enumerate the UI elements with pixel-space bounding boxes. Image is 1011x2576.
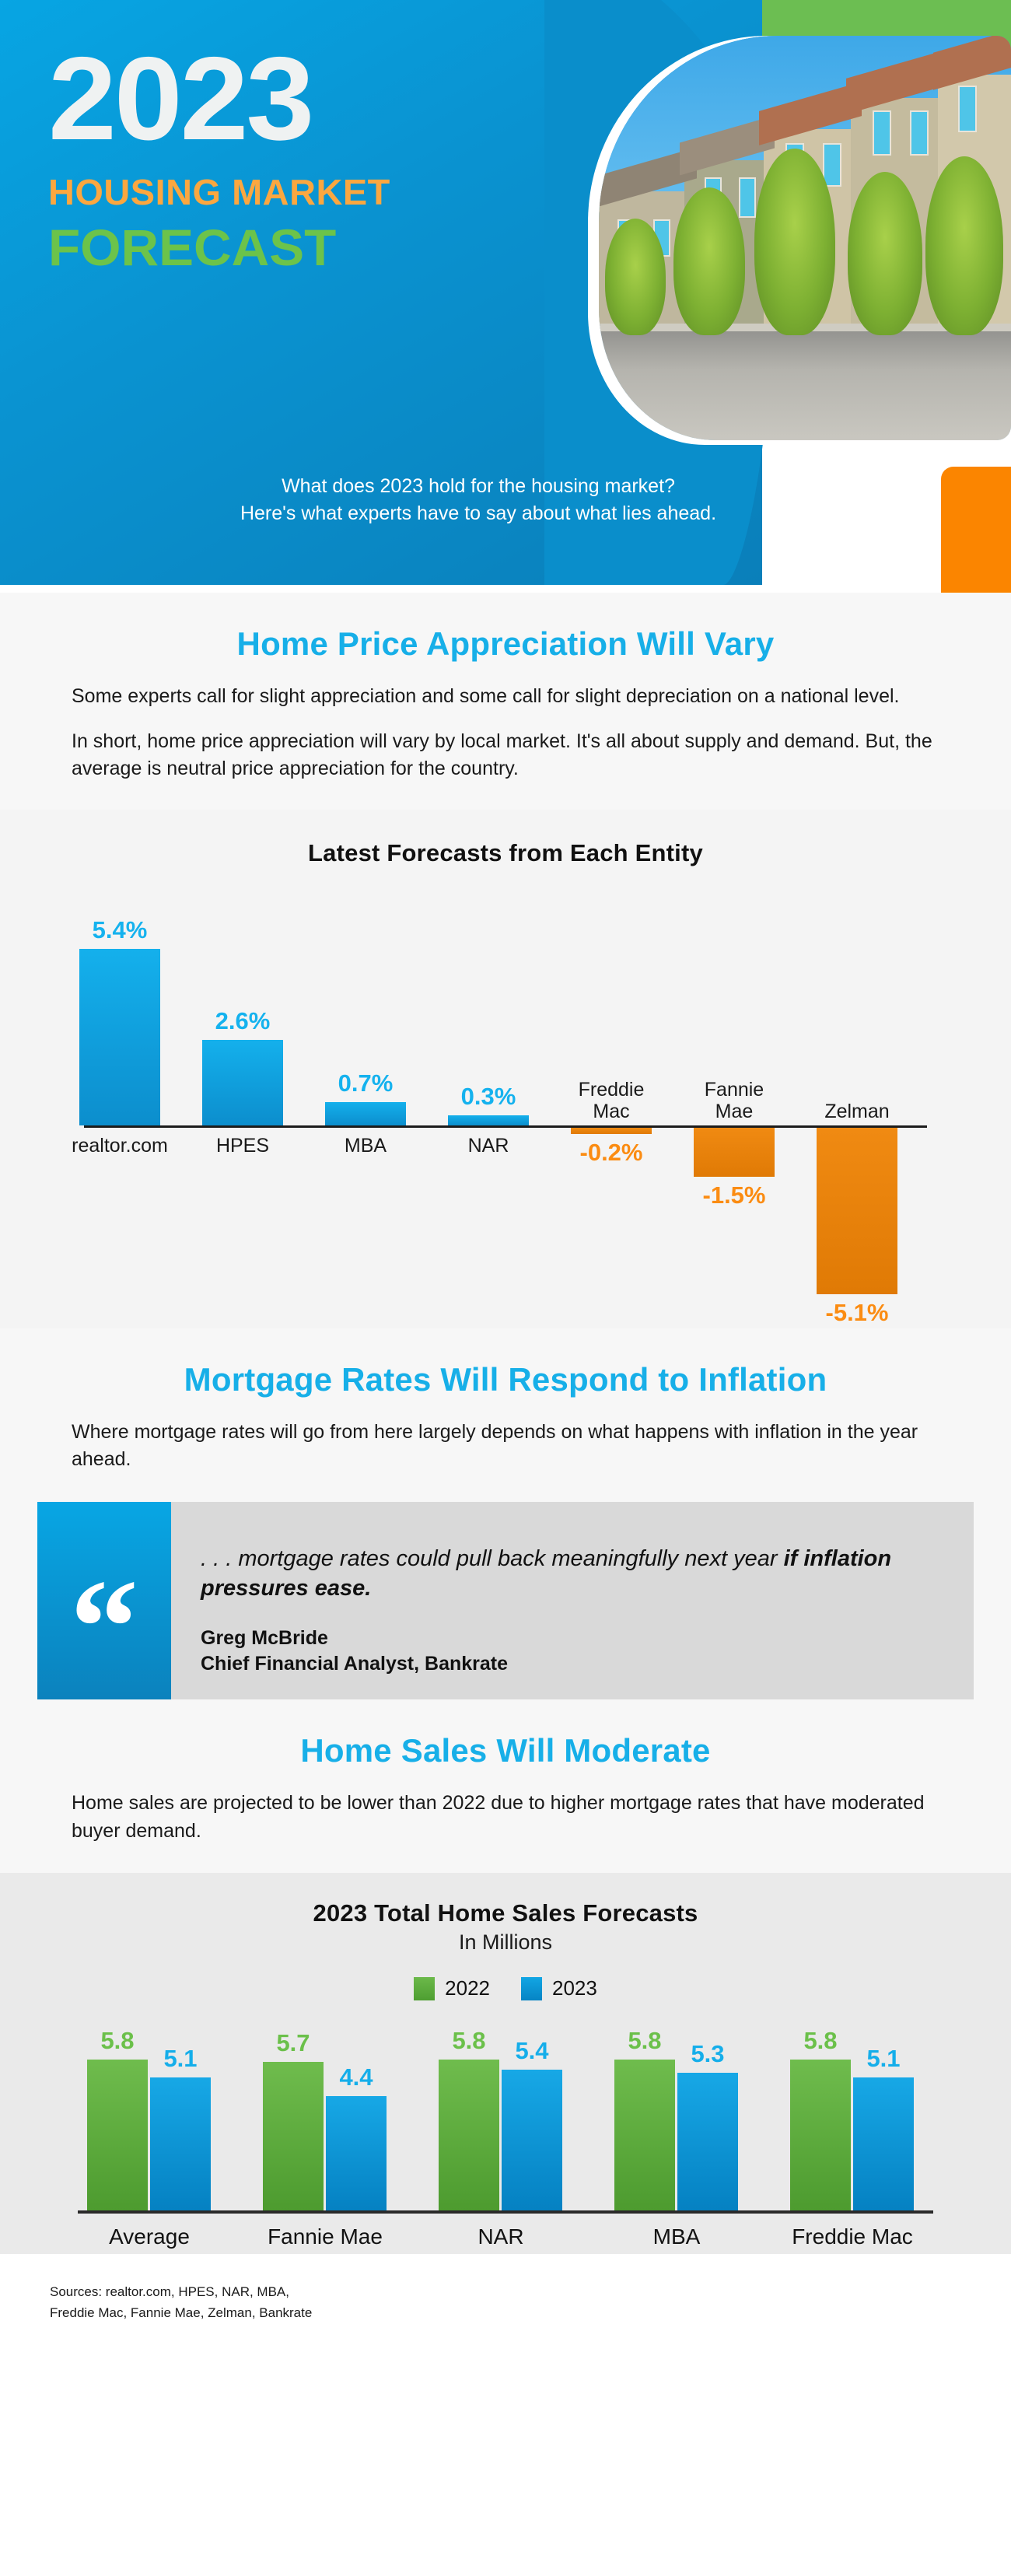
chart1-bar-negative <box>817 1128 897 1294</box>
quote-author-title: Chief Financial Analyst, Bankrate <box>201 1651 936 1677</box>
chart2-legend-label: 2023 <box>552 1976 597 2000</box>
chart2-bar: 4.4 <box>326 2096 387 2210</box>
chart1-category-label: Zelman <box>824 1101 889 1122</box>
chart2-legend-label: 2022 <box>445 1976 490 2000</box>
chart2-value-label: 5.1 <box>866 2045 900 2073</box>
chart2-value-label: 5.8 <box>452 2027 485 2055</box>
sources-line-2: Freddie Mac, Fannie Mae, Zelman, Bankrat… <box>50 2303 1011 2323</box>
chart2-bar: 5.7 <box>263 2062 324 2210</box>
chart2-value-label: 5.3 <box>691 2040 724 2068</box>
page-title-year: 2023 <box>48 45 613 154</box>
section1-body: Some experts call for slight appreciatio… <box>0 663 1011 783</box>
quote-author: Greg McBride <box>201 1626 936 1651</box>
chart2-category-label: Fannie Mae <box>268 2224 383 2249</box>
chart1-bar-negative <box>571 1128 652 1134</box>
chart2-baseline-axis <box>78 2210 933 2214</box>
chart1-bar-group: 2.6%HPES <box>202 901 283 1294</box>
chart1-bar-negative <box>694 1128 775 1177</box>
chart2-bar: 5.1 <box>853 2077 914 2210</box>
chart1-category-label: FannieMae <box>705 1079 764 1122</box>
chart1-value-label: 0.7% <box>338 1069 394 1097</box>
chart2-bar: 5.8 <box>439 2060 499 2210</box>
section3-body: Home sales are projected to be lower tha… <box>0 1769 1011 1845</box>
chart1-category-label: MBA <box>345 1135 387 1157</box>
quote-text: . . . mortgage rates could pull back mea… <box>201 1544 936 1605</box>
chart2-legend-swatch <box>521 1977 542 2000</box>
section-mortgage-rates: Mortgage Rates Will Respond to Inflation… <box>0 1328 1011 1700</box>
chart1-bar-positive <box>79 949 160 1125</box>
chart2-bar: 5.3 <box>677 2073 738 2211</box>
chart1-bar-group: 0.3%NAR <box>448 901 529 1294</box>
quote-mark-icon: “ <box>70 1587 138 1669</box>
chart2-value-label: 5.1 <box>163 2045 197 2073</box>
header-banner: 2023 HOUSING MARKET FORECAST What does 2… <box>0 0 1011 593</box>
quote-text-plain: . . . mortgage rates could pull back mea… <box>201 1546 784 1571</box>
chart1-title: Latest Forecasts from Each Entity <box>0 839 1011 867</box>
chart2-legend-item: 2023 <box>521 1976 597 2000</box>
chart1-value-label: -1.5% <box>703 1181 766 1209</box>
chart2-bar-group: 5.74.4 <box>263 2062 387 2210</box>
chart2-value-label: 5.8 <box>100 2027 134 2055</box>
chart1-bar-positive <box>202 1040 283 1125</box>
chart1-bar-group: 5.4%realtor.com <box>79 901 160 1294</box>
chart1-value-label: -0.2% <box>580 1139 643 1167</box>
tagline-line-2: Here's what experts have to say about wh… <box>31 500 925 527</box>
chart1-bar-group: -1.5%FannieMae <box>694 901 775 1294</box>
chart2-value-label: 5.7 <box>276 2029 310 2057</box>
chart2-legend-item: 2022 <box>414 1976 490 2000</box>
chart1-value-label: 2.6% <box>215 1007 271 1035</box>
chart2-title: 2023 Total Home Sales Forecasts <box>0 1899 1011 1927</box>
chart2-bar: 5.8 <box>790 2060 851 2210</box>
chart1-category-label: HPES <box>216 1135 269 1157</box>
chart2-value-label: 4.4 <box>339 2063 373 2091</box>
chart2-bar: 5.1 <box>150 2077 211 2210</box>
chart2-category-label: Freddie Mac <box>792 2224 913 2249</box>
chart2-bar: 5.8 <box>614 2060 675 2210</box>
section-home-price-appreciation: Home Price Appreciation Will Vary Some e… <box>0 593 1011 1328</box>
chart1-value-label: -5.1% <box>826 1299 889 1327</box>
chart1-category-label: NAR <box>468 1135 509 1157</box>
chart1-bar-group: -5.1%Zelman <box>817 901 897 1294</box>
chart2-category-label: NAR <box>478 2224 523 2249</box>
chart1-plot-area: 5.4%realtor.com2.6%HPES0.7%MBA0.3%NAR-0.… <box>62 901 949 1294</box>
chart1-category-label: FreddieMac <box>579 1079 645 1122</box>
chart2-bar-group: 5.85.4 <box>439 2060 562 2210</box>
chart2-category-label: MBA <box>653 2224 701 2249</box>
section2-paragraph-1: Where mortgage rates will go from here l… <box>72 1419 939 1474</box>
chart2-legend: 20222023 <box>0 1976 1011 2000</box>
chart2-bar-group: 5.85.1 <box>87 2060 211 2210</box>
chart1-bar-group: -0.2%FreddieMac <box>571 901 652 1294</box>
chart2-bar-group: 5.85.3 <box>614 2060 738 2210</box>
expert-quote-block: “ . . . mortgage rates could pull back m… <box>37 1502 974 1700</box>
chart1-category-label: realtor.com <box>72 1135 168 1157</box>
chart2-subtitle: In Millions <box>0 1930 1011 1955</box>
chart2-value-label: 5.4 <box>515 2037 548 2065</box>
section2-heading: Mortgage Rates Will Respond to Inflation <box>0 1328 1011 1398</box>
chart-total-home-sales: 2023 Total Home Sales Forecasts In Milli… <box>0 1873 1011 2254</box>
tagline-line-1: What does 2023 hold for the housing mark… <box>31 473 925 500</box>
chart1-bar-positive <box>448 1115 529 1125</box>
page-title-line3: FORECAST <box>48 218 602 277</box>
section3-heading: Home Sales Will Moderate <box>0 1699 1011 1769</box>
chart2-category-label: Average <box>109 2224 190 2249</box>
chart2-plot-area: 5.85.1Average5.74.4Fannie Mae5.85.4NAR5.… <box>54 2021 957 2254</box>
quote-mark-panel: “ <box>37 1502 171 1700</box>
chart1-value-label: 0.3% <box>461 1083 516 1111</box>
section3-paragraph-1: Home sales are projected to be lower tha… <box>72 1790 939 1845</box>
chart2-value-label: 5.8 <box>803 2027 837 2055</box>
chart2-bar: 5.4 <box>502 2070 562 2210</box>
chart2-value-label: 5.8 <box>628 2027 661 2055</box>
sources-line-1: Sources: realtor.com, HPES, NAR, MBA, <box>50 2282 1011 2302</box>
header-tagline: What does 2023 hold for the housing mark… <box>0 473 925 527</box>
chart2-bar-group: 5.85.1 <box>790 2060 914 2210</box>
section1-paragraph-1: Some experts call for slight appreciatio… <box>72 683 939 711</box>
neighborhood-photo <box>599 36 1011 440</box>
chart2-bar: 5.8 <box>87 2060 148 2210</box>
chart2-legend-swatch <box>414 1977 435 2000</box>
chart1-bar-positive <box>325 1102 406 1125</box>
quote-attribution: Greg McBride Chief Financial Analyst, Ba… <box>201 1626 936 1676</box>
orange-accent-shape <box>941 467 1011 593</box>
chart-latest-forecasts: Latest Forecasts from Each Entity 5.4%re… <box>0 810 1011 1328</box>
chart1-bar-group: 0.7%MBA <box>325 901 406 1294</box>
section-home-sales: Home Sales Will Moderate Home sales are … <box>0 1699 1011 2254</box>
section1-paragraph-2: In short, home price appreciation will v… <box>72 728 939 783</box>
section2-body: Where mortgage rates will go from here l… <box>0 1398 1011 1474</box>
section1-heading: Home Price Appreciation Will Vary <box>0 593 1011 663</box>
chart1-value-label: 5.4% <box>93 916 148 944</box>
page-title-line2: HOUSING MARKET <box>48 171 602 213</box>
sources-footer: Sources: realtor.com, HPES, NAR, MBA, Fr… <box>0 2254 1011 2323</box>
